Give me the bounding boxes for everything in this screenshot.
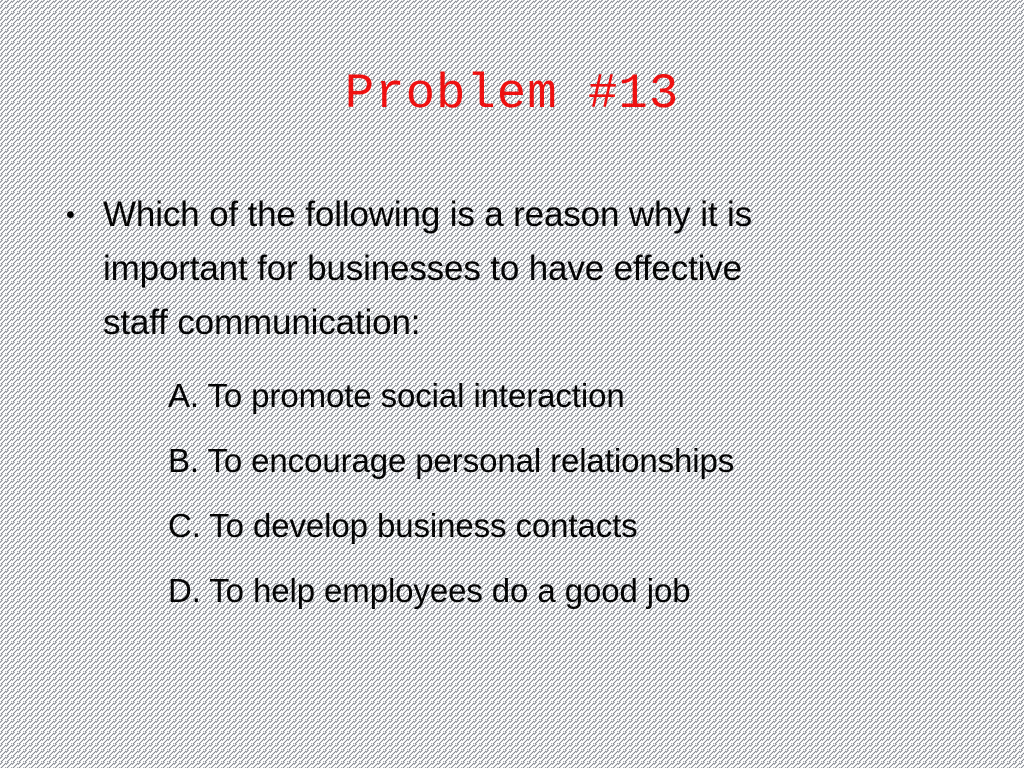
- question-line-3-text: staff communication:: [103, 296, 942, 350]
- question-line-2-text: important for businesses to have effecti…: [103, 242, 942, 296]
- bullet-icon: •: [62, 188, 103, 242]
- question-line-3: staff communication:: [62, 296, 942, 350]
- answer-option-d[interactable]: D. To help employees do a good job: [168, 558, 968, 623]
- question-line-1: • Which of the following is a reason why…: [62, 188, 942, 242]
- question-line-1-text: Which of the following is a reason why i…: [103, 188, 942, 242]
- answer-options-list: A. To promote social interaction B. To e…: [168, 363, 968, 623]
- slide: Problem #13 • Which of the following is …: [0, 0, 1024, 768]
- slide-title: Problem #13: [0, 66, 1024, 122]
- answer-option-c[interactable]: C. To develop business contacts: [168, 493, 968, 558]
- question-block: • Which of the following is a reason why…: [62, 188, 942, 350]
- answer-option-a[interactable]: A. To promote social interaction: [168, 363, 968, 428]
- question-line-2: important for businesses to have effecti…: [62, 242, 942, 296]
- slide-content: Problem #13 • Which of the following is …: [0, 0, 1024, 768]
- answer-option-b[interactable]: B. To encourage personal relationships: [168, 428, 968, 493]
